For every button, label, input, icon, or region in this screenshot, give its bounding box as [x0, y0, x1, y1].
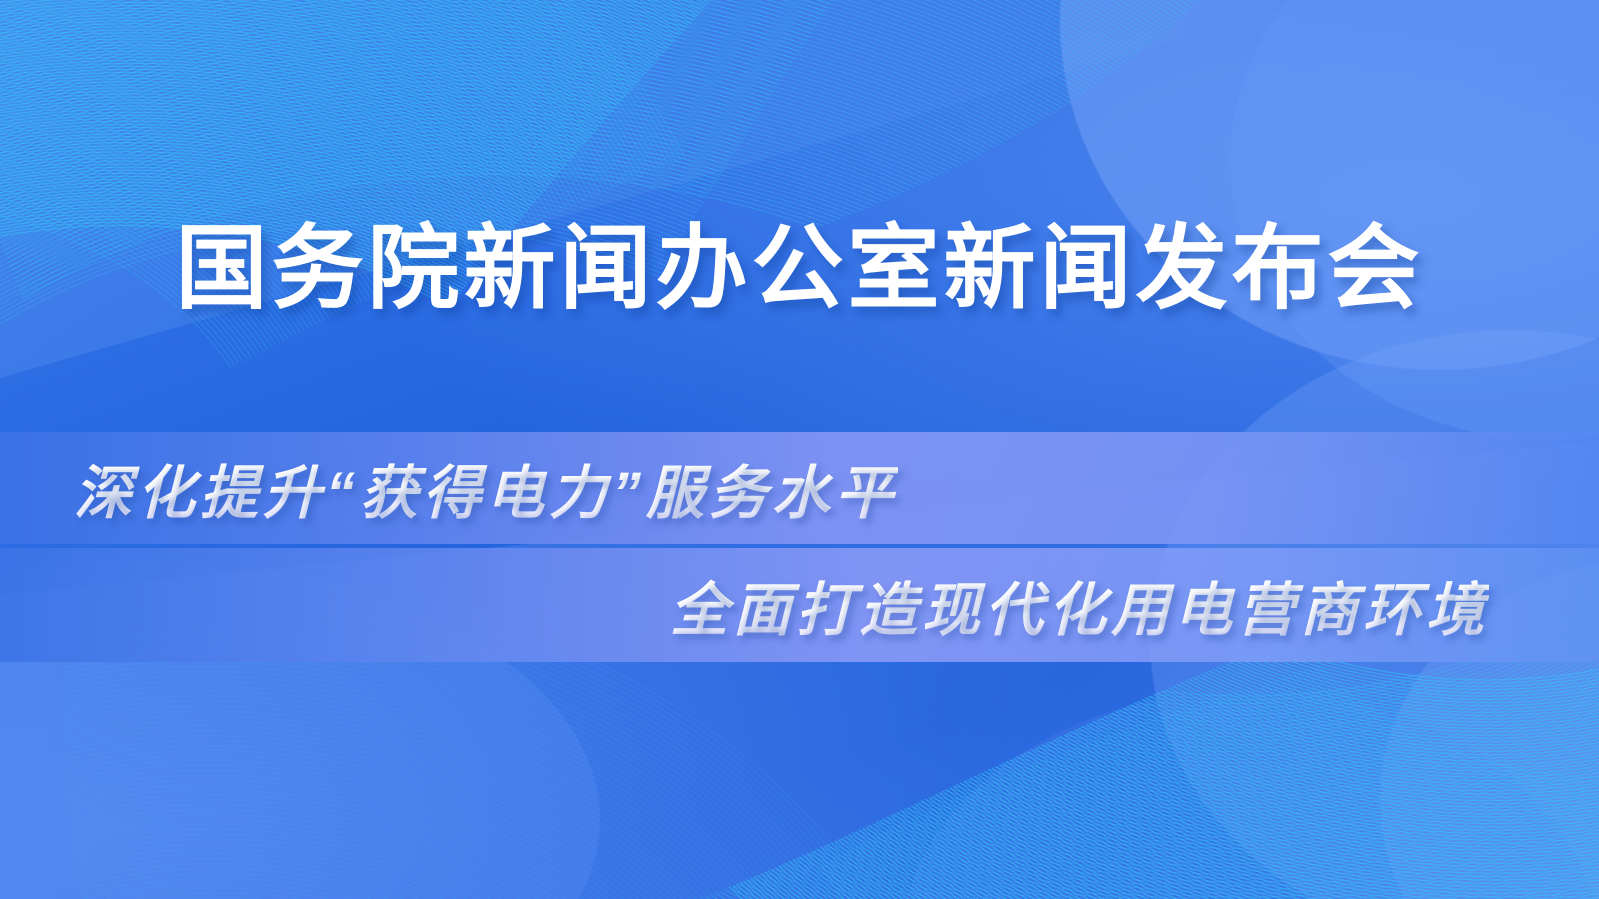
subtitle-band-secondary: 全面打造现代化用电营商环境	[0, 548, 1599, 662]
subtitle-line-1: 深化提升“获得电力”服务水平	[74, 446, 898, 530]
press-conference-banner: 国务院新闻办公室新闻发布会 深化提升“获得电力”服务水平 全面打造现代化用电营商…	[0, 0, 1599, 899]
subtitle-line-2: 全面打造现代化用电营商环境	[670, 563, 1489, 647]
subtitle-band-primary: 深化提升“获得电力”服务水平	[0, 432, 1599, 544]
page-title: 国务院新闻办公室新闻发布会	[0, 218, 1599, 321]
